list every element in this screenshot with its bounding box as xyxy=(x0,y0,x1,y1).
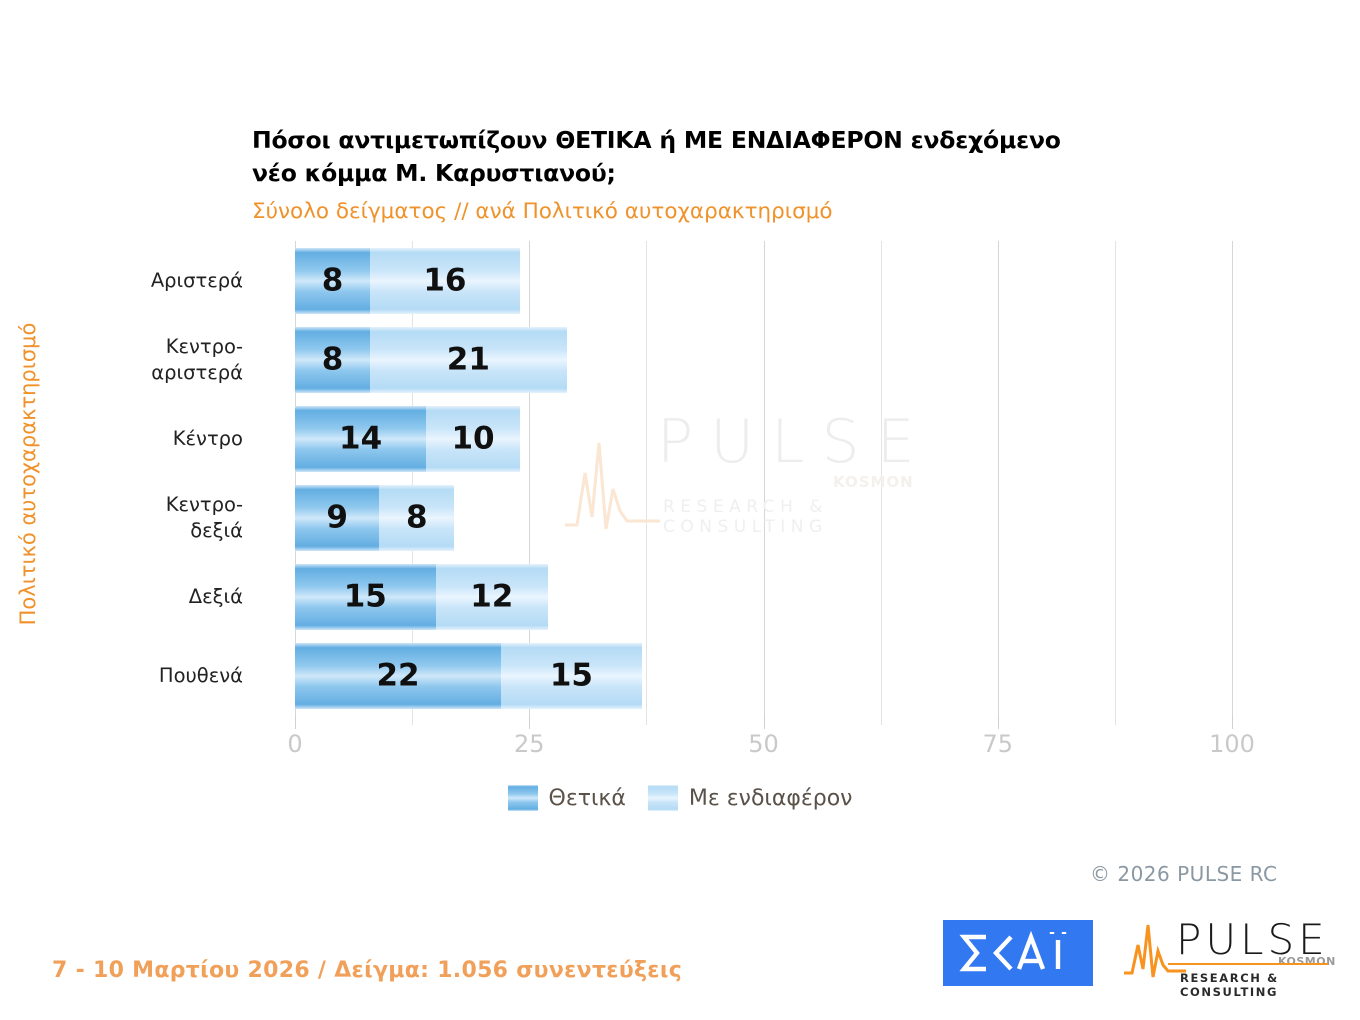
y-axis-category-label-line: Κέντρο xyxy=(53,426,243,452)
pulse-underline xyxy=(1168,963,1328,965)
bar-segment-positive: 8 xyxy=(295,248,370,314)
bar-segment-interest: 12 xyxy=(436,564,548,630)
y-axis-category-label-line: αριστερά xyxy=(53,360,243,386)
bar-value-label: 16 xyxy=(370,265,520,296)
x-axis-minor-tick xyxy=(646,716,647,725)
skai-wordmark-icon xyxy=(943,920,1093,986)
x-axis-tick-label: 100 xyxy=(1192,730,1272,758)
bar-segment-interest: 8 xyxy=(379,485,454,551)
x-axis-tick-label: 75 xyxy=(958,730,1038,758)
y-axis-category-labels: ΑριστεράΚεντρο-αριστεράΚέντροΚεντρο-δεξι… xyxy=(53,241,243,716)
x-axis-minor-tick xyxy=(1115,716,1116,725)
x-axis-tick-label: 25 xyxy=(489,730,569,758)
y-axis-title: Πολιτικό αυτοχαρακτηρισμό xyxy=(16,254,40,694)
x-axis-minor-tick xyxy=(881,716,882,725)
y-axis-category-label: Κέντρο xyxy=(53,426,243,452)
legend-label: Θετικά xyxy=(549,786,626,811)
x-axis-minor-tick xyxy=(412,716,413,725)
legend-label: Με ενδιαφέρον xyxy=(689,786,853,811)
bar-segment-positive: 14 xyxy=(295,406,426,472)
skai-logo xyxy=(943,920,1093,986)
x-axis-tick xyxy=(1232,716,1233,729)
y-axis-category-label: Πουθενά xyxy=(53,663,243,689)
x-axis: 0255075100 xyxy=(295,716,1232,766)
bar-value-label: 8 xyxy=(295,344,370,375)
x-axis-tick xyxy=(998,716,999,729)
bar-value-label: 10 xyxy=(426,423,520,454)
bar-segment-positive: 15 xyxy=(295,564,436,630)
bar-row: 1410 xyxy=(295,406,1232,472)
x-axis-tick-label: 50 xyxy=(724,730,804,758)
bar-value-label: 12 xyxy=(436,582,548,613)
y-axis-category-label: Κεντρο-δεξιά xyxy=(53,492,243,544)
bar-row: 1512 xyxy=(295,564,1232,630)
y-axis-category-label: Αριστερά xyxy=(53,268,243,294)
plot-region: 81682114109815122215 xyxy=(295,241,1232,716)
gridline-major xyxy=(1232,241,1233,716)
bar-segment-interest: 10 xyxy=(426,406,520,472)
bar-segment-interest: 21 xyxy=(370,327,567,393)
pulse-logo: PULSE KOSMON RESEARCH & CONSULTING xyxy=(1124,915,1329,990)
chart-legend: ΘετικάΜε ενδιαφέρον xyxy=(0,785,1360,811)
copyright-text: © 2026 PULSE RC xyxy=(1090,862,1278,886)
bar-segment-interest: 16 xyxy=(370,248,520,314)
y-axis-category-label: Δεξιά xyxy=(53,584,243,610)
bar-value-label: 21 xyxy=(370,344,567,375)
bar-value-label: 15 xyxy=(295,582,436,613)
bar-segment-interest: 15 xyxy=(501,643,642,709)
bar-value-label: 8 xyxy=(379,503,454,534)
bar-segment-positive: 9 xyxy=(295,485,379,551)
bar-value-label: 15 xyxy=(501,661,642,692)
bar-segment-positive: 8 xyxy=(295,327,370,393)
bar-segment-positive: 22 xyxy=(295,643,501,709)
fieldwork-date-sample: 7 - 10 Μαρτίου 2026 / Δείγμα: 1.056 συνε… xyxy=(52,958,682,983)
y-axis-category-label-line: Κεντρο- xyxy=(53,492,243,518)
bar-row: 816 xyxy=(295,248,1232,314)
x-axis-tick xyxy=(529,716,530,729)
y-axis-category-label: Κεντρο-αριστερά xyxy=(53,334,243,386)
y-axis-category-label-line: Πουθενά xyxy=(53,663,243,689)
bar-value-label: 14 xyxy=(295,423,426,454)
legend-swatch-positive xyxy=(508,785,538,811)
legend-swatch-interest xyxy=(648,785,678,811)
x-axis-tick xyxy=(295,716,296,729)
bar-value-label: 8 xyxy=(295,265,370,296)
x-axis-tick xyxy=(764,716,765,729)
y-axis-category-label-line: δεξιά xyxy=(53,518,243,544)
pulse-subtitle: RESEARCH & CONSULTING xyxy=(1180,971,1329,999)
y-axis-category-label-line: Κεντρο- xyxy=(53,334,243,360)
bar-row: 821 xyxy=(295,327,1232,393)
bar-value-label: 22 xyxy=(295,661,501,692)
y-axis-category-label-line: Αριστερά xyxy=(53,268,243,294)
legend-item[interactable]: Με ενδιαφέρον xyxy=(648,785,853,811)
y-axis-category-label-line: Δεξιά xyxy=(53,584,243,610)
legend-item[interactable]: Θετικά xyxy=(508,785,626,811)
x-axis-tick-label: 0 xyxy=(255,730,335,758)
bar-row: 2215 xyxy=(295,643,1232,709)
bar-row: 98 xyxy=(295,485,1232,551)
bar-value-label: 9 xyxy=(295,503,379,534)
pulse-kosmon-label: KOSMON xyxy=(1278,955,1336,968)
